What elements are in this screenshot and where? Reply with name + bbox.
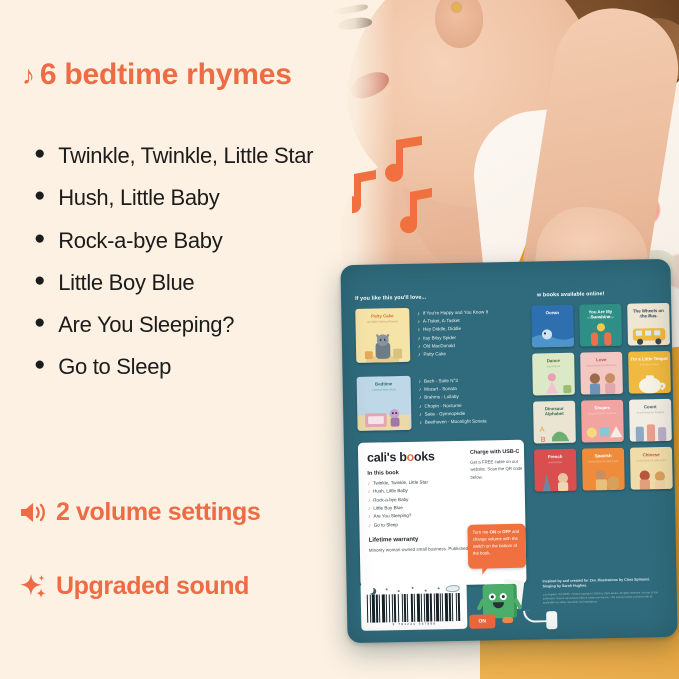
thumbnail-subtitle: Sound Book for Little Ones	[630, 459, 672, 463]
thumbnail-title: Patty Cake	[355, 313, 409, 319]
book-back-cover: If you like this you'll love... w books …	[340, 259, 677, 643]
thumbnail-artwork	[580, 321, 622, 346]
bullet-icon: ●	[34, 227, 45, 252]
star-icon	[412, 587, 414, 589]
online-book-you-are-my-sunshine[interactable]: You Are My Sunshine and Other Happy Song…	[579, 304, 622, 347]
rhyme-title: Are You Sleeping?	[58, 311, 234, 338]
credits-fine-print: Los Angeles, CA 90066. Printed copyright…	[543, 591, 663, 605]
star-icon	[386, 588, 388, 590]
online-book-count[interactable]: Count Sound Book for Toddlers	[629, 399, 672, 442]
bubble-prefix: Turn me	[473, 529, 490, 534]
thumbnail-subtitle: Sound Book for Toddlers	[629, 411, 671, 415]
rhyme-title: Twinkle, Twinkle, Little Star	[58, 142, 313, 169]
star-icon	[398, 590, 400, 592]
credits-block: Inspired by and created for Zev. Illustr…	[542, 577, 662, 605]
thumbnail-title: Love	[580, 357, 622, 363]
list-item: ● Are You Sleeping?	[34, 311, 334, 338]
mascot-eye	[489, 593, 496, 600]
thumbnail-artwork	[532, 370, 574, 395]
thumbnail-artwork	[628, 369, 670, 394]
thumbnail-artwork	[580, 369, 622, 394]
thumbnail-bedtime[interactable]: Bedtime Classical Music Book	[357, 376, 412, 431]
bullet-icon: ●	[34, 184, 45, 209]
switch-instruction-bubble: Turn me ON or OFF and change volume with…	[467, 524, 526, 569]
thumbnail-title: Dance	[532, 358, 574, 364]
feature-volume-settings: 2 volume settings	[20, 498, 260, 527]
thumbnail-subtitle: and Other Songs	[628, 363, 670, 367]
barcode-decoration	[364, 584, 464, 595]
usb-c-plug	[546, 611, 557, 629]
music-note-icon: ♪	[22, 60, 35, 90]
online-book-dinosaur-alphabet[interactable]: Dinosaur Alphabet A B	[533, 401, 576, 444]
left-feature-column: ♪6 bedtime rhymes ● Twinkle, Twinkle, Li…	[0, 0, 340, 679]
thumbnail-artwork	[356, 331, 409, 363]
bullet-icon: ●	[34, 269, 45, 294]
thumbnail-subtitle: Sound Book for Toddlers	[581, 412, 623, 416]
thumbnail-title: Ocean	[531, 310, 573, 316]
online-book-im-a-little-teapot[interactable]: I'm a Little Teapot and Other Songs	[628, 351, 671, 394]
thumbnail-title: Shapes	[581, 405, 623, 411]
thumbnail-artwork	[357, 399, 410, 431]
thumbnail-subtitle: Classical Music Book	[357, 388, 411, 392]
moon-icon	[366, 586, 375, 595]
patty-cake-song-list: If You're Happy and You Know It A-Tisket…	[417, 308, 489, 358]
rhyme-title: Hush, Little Baby	[58, 184, 219, 211]
thumbnail-title: Bedtime	[357, 381, 411, 387]
charge-heading: Charge with USB-C	[470, 449, 526, 456]
on-switch-tab[interactable]: ON	[469, 614, 495, 628]
song-item: Patty Cake	[418, 349, 489, 359]
charge-text: Get a FREE cable on our website. Scan th…	[470, 458, 526, 481]
page-title: ♪6 bedtime rhymes	[22, 58, 322, 92]
floating-music-notes-icon	[352, 136, 448, 236]
online-book-french[interactable]: French Sound Book	[534, 449, 577, 492]
mascot-eye	[500, 593, 507, 600]
list-item: ● Hush, Little Baby	[34, 184, 334, 211]
sparkle-icon	[20, 573, 47, 600]
logo-text-after: oks	[414, 449, 435, 463]
in-this-book-list: Twinkle, Twinkle, Little Star Hush, Litt…	[368, 477, 517, 530]
feature-label: 2 volume settings	[56, 498, 260, 527]
thumbnail-patty-cake[interactable]: Patty Cake and Other Nursery Rhymes	[355, 308, 410, 363]
barcode-bars	[364, 593, 465, 623]
star-icon	[425, 590, 427, 592]
feature-upgraded-sound: Upgraded sound	[20, 572, 249, 601]
thumbnail-artwork	[629, 417, 671, 442]
bullet-icon: ●	[34, 311, 45, 336]
svg-text:A: A	[540, 425, 545, 433]
list-item: ● Little Boy Blue	[34, 269, 334, 296]
rhyme-title: Rock-a-bye Baby	[58, 227, 222, 254]
bullet-icon: ●	[34, 353, 45, 378]
thumbnail-artwork	[628, 321, 670, 346]
online-book-love[interactable]: Love Sound Book for Little Ones	[580, 352, 623, 395]
thumbnail-subtitle: Sound Book for Little Ones	[582, 460, 624, 464]
online-book-ocean[interactable]: Ocean	[531, 305, 574, 348]
list-item: ● Twinkle, Twinkle, Little Star	[34, 142, 334, 169]
rhyme-title: Little Boy Blue	[58, 269, 194, 296]
rhyme-list: ● Twinkle, Twinkle, Little Star ● Hush, …	[34, 142, 334, 396]
thumbnail-artwork: A B	[533, 418, 575, 443]
thumbnail-title: Dinosaur Alphabet	[533, 406, 575, 417]
barcode-block: 9 781234 567890	[361, 581, 468, 631]
star-icon	[438, 587, 440, 589]
thumbnail-subtitle: Sound Book for Little Ones	[580, 364, 622, 368]
online-book-spanish[interactable]: Spanish Sound Book for Little Ones	[582, 448, 625, 491]
thumbnail-title: Chinese	[630, 452, 672, 458]
list-item: ● Rock-a-bye Baby	[34, 227, 334, 254]
thumbnail-artwork	[534, 466, 576, 491]
thumbnail-artwork	[582, 465, 624, 490]
list-item: ● Go to Sleep	[34, 353, 334, 380]
thumbnail-title: Spanish	[582, 453, 624, 459]
online-book-chinese[interactable]: Chinese Sound Book for Little Ones	[630, 447, 673, 490]
recommendations-heading: If you like this you'll love...	[355, 295, 426, 302]
online-book-wheels-on-the-bus[interactable]: The Wheels on the Bus and Other Songs	[627, 303, 670, 346]
song-item: Beethoven - Moonlight Sonata	[419, 417, 486, 426]
thumbnail-title: I'm a Little Teapot	[628, 356, 670, 362]
bird-icon	[446, 585, 460, 592]
thumbnail-subtitle: Sound Book	[534, 461, 576, 465]
thumbnail-artwork	[532, 322, 574, 347]
online-books-heading: w books available online!	[537, 291, 605, 298]
rhyme-title: Go to Sleep	[58, 353, 171, 380]
bedtime-song-list: Bach - Suite N°3 Mozart - Sonata Brahms …	[419, 376, 487, 426]
thumbnail-subtitle: and Other Nursery Rhymes	[355, 320, 409, 324]
online-book-shapes[interactable]: Shapes Sound Book for Toddlers	[581, 400, 624, 443]
thumbnail-title: Count	[629, 404, 671, 410]
thumbnail-artwork	[630, 464, 672, 489]
mascot-foot	[502, 617, 513, 623]
baby-earring	[452, 3, 461, 12]
credits-strong: Inspired by and created for Zev. Illustr…	[542, 577, 662, 590]
feature-label: Upgraded sound	[56, 572, 249, 601]
speaker-volume-icon	[20, 501, 47, 524]
bullet-icon: ●	[34, 142, 45, 167]
thumbnail-title: French	[534, 454, 576, 460]
svg-text:B: B	[541, 435, 546, 443]
logo-text-before: cali's b	[367, 450, 407, 465]
charging-info: Charge with USB-C Get a FREE cable on ou…	[470, 449, 527, 481]
online-book-dance[interactable]: Dance Sound Book	[532, 353, 575, 396]
thumbnail-subtitle: Sound Book	[532, 365, 574, 369]
thumbnail-artwork	[581, 417, 623, 442]
headline-text: 6 bedtime rhymes	[40, 58, 292, 91]
